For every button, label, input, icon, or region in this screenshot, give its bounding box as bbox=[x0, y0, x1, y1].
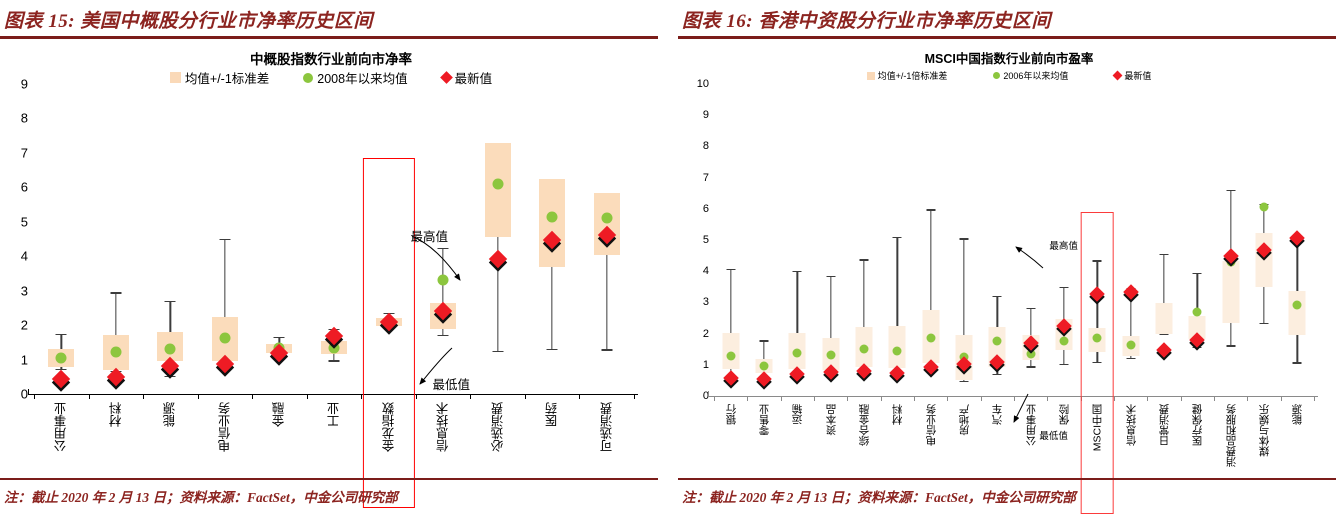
chart-msci-china-pe: MSCI中国指数行业前向市盈率 均值+/-1倍标准差 2006年以来均值 最新值… bbox=[678, 42, 1340, 476]
chart-title: MSCI中国指数行业前向市盈率 bbox=[678, 48, 1340, 67]
plot-area: 0123456789公用事业材料能源电信业务金融工业金龙指数信息技术必选消费医药… bbox=[0, 84, 662, 518]
legend-item-latest: 最新值 bbox=[1114, 69, 1151, 82]
legend-item-band: 均值+/-1倍标准差 bbox=[867, 69, 948, 82]
footnote-divider bbox=[678, 478, 1336, 480]
band-swatch-icon bbox=[867, 72, 875, 80]
legend-label-latest: 最新值 bbox=[1124, 69, 1151, 82]
latest-diamond-icon bbox=[1113, 71, 1123, 81]
chart-title: 中概股指数行业前向市净率 bbox=[0, 48, 662, 68]
exhibit-panel-15: 图表 15: 美国中概股分行业市净率历史区间 中概股指数行业前向市净率 均值+/… bbox=[0, 0, 662, 524]
mean-dot-icon bbox=[993, 72, 1000, 79]
exhibit-title-16: 图表 16: 香港中资股分行业市净率历史区间 bbox=[682, 6, 1051, 33]
band-swatch-icon bbox=[170, 72, 181, 83]
plot-area: 012345678910银行零售业运输资本品综合金融材料电信业务房地产汽车公用事… bbox=[678, 84, 1340, 518]
latest-diamond-icon bbox=[440, 71, 453, 84]
exhibit-title-15: 图表 15: 美国中概股分行业市净率历史区间 bbox=[4, 6, 373, 33]
legend-item-mean: 2006年以来均值 bbox=[993, 69, 1068, 82]
annotation-arrow-high bbox=[0, 84, 662, 518]
exhibit-panel-16: 图表 16: 香港中资股分行业市净率历史区间 MSCI中国指数行业前向市盈率 均… bbox=[678, 0, 1340, 524]
footnote-divider bbox=[0, 478, 658, 480]
figure-page: 图表 15: 美国中概股分行业市净率历史区间 中概股指数行业前向市净率 均值+/… bbox=[0, 0, 1340, 524]
mean-dot-icon bbox=[303, 73, 313, 83]
footnote-16: 注：截止 2020 年 2 月 13 日；资料来源：FactSet，中金公司研究… bbox=[682, 486, 1076, 506]
chart-china-adr-pb: 中概股指数行业前向市净率 均值+/-1标准差 2008年以来均值 最新值 012… bbox=[0, 42, 662, 476]
title-divider bbox=[678, 36, 1336, 39]
legend-label-band: 均值+/-1倍标准差 bbox=[878, 69, 948, 82]
title-divider bbox=[0, 36, 658, 39]
legend-label-mean: 2006年以来均值 bbox=[1003, 69, 1068, 82]
footnote-15: 注：截止 2020 年 2 月 13 日；资料来源：FactSet，中金公司研究… bbox=[4, 486, 398, 506]
annotation-arrow-high bbox=[678, 84, 1340, 518]
chart-legend: 均值+/-1倍标准差 2006年以来均值 最新值 bbox=[678, 69, 1340, 82]
